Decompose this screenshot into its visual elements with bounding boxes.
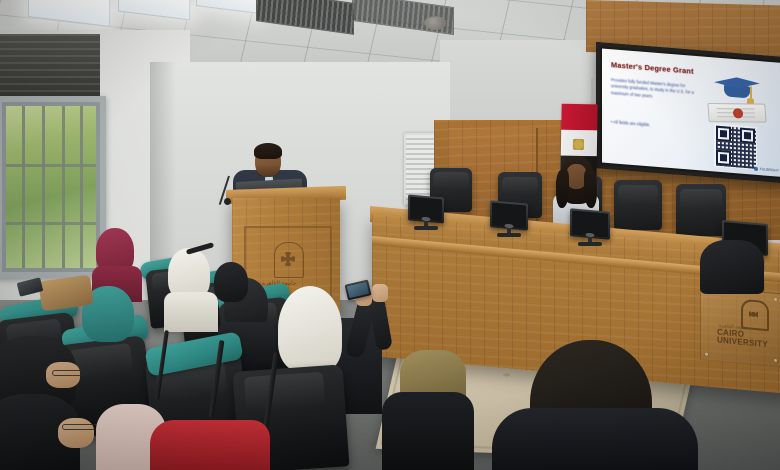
slide: Master's Degree Grant Provides fully fun… <box>602 48 780 177</box>
window-glass <box>6 106 96 268</box>
lecture-hall-photo: Master's Degree Grant Provides fully fun… <box>0 0 780 470</box>
university-emblem-icon <box>274 242 304 278</box>
slide-body-text: Provides fully funded Master's degree fo… <box>611 77 695 103</box>
panelist-hair-strand <box>556 170 569 208</box>
logo-text: FULBRIGHT <box>760 167 779 173</box>
attendee-foreground-face <box>58 418 94 448</box>
flag-band-red <box>561 104 597 131</box>
phone-screen <box>347 282 369 298</box>
attendee-red-top <box>150 420 270 470</box>
speaker-face-shadow <box>256 164 280 177</box>
attendee-far-right-hair <box>700 240 764 294</box>
qr-code-icon[interactable] <box>714 123 757 169</box>
monitor-foot <box>497 233 521 237</box>
plaque-name: CAIRO UNIVERSITY <box>717 329 768 350</box>
attendee-eyewear <box>62 424 98 430</box>
panel-chair[interactable] <box>676 184 726 236</box>
slide-organization-logo: FULBRIGHT <box>754 167 779 173</box>
desk-monitor[interactable] <box>408 194 444 223</box>
window-blind[interactable] <box>0 34 100 103</box>
photographer-hand <box>372 284 388 302</box>
plaque-line-2: UNIVERSITY <box>717 337 768 350</box>
slide-title: Master's Degree Grant <box>611 60 694 76</box>
desk-monitor[interactable] <box>490 200 528 230</box>
microphone-head <box>224 198 231 205</box>
attendee-man-foreground-shoulders <box>492 408 698 470</box>
presentation-screen: Master's Degree Grant Provides fully fun… <box>596 42 780 184</box>
blind-slats <box>0 34 100 100</box>
diploma-seal <box>733 108 744 118</box>
ceiling-speaker <box>424 16 446 30</box>
logo-mark-icon <box>754 167 758 171</box>
attendee-foreground-body <box>382 392 474 470</box>
diploma-scroll-icon <box>707 103 766 123</box>
attendee-white-body <box>164 292 218 332</box>
attendee-white-hijab-photographer <box>278 286 342 372</box>
flag-eagle-emblem <box>573 139 584 150</box>
slide-bullet: • All fields are eligible <box>611 119 697 131</box>
monitor-foot <box>414 226 438 230</box>
monitor-foot <box>578 242 602 246</box>
panel-chair[interactable] <box>614 180 662 230</box>
attendee-eyewear <box>52 370 86 376</box>
graduation-cap-icon <box>714 73 760 99</box>
window <box>0 96 106 278</box>
desk-monitor[interactable] <box>570 208 610 239</box>
panelist-hair-strand <box>584 170 597 208</box>
attendee-dark-hijab <box>214 262 248 302</box>
cairo-university-plaque: جامعة القاهرة CAIRO UNIVERSITY <box>700 286 780 367</box>
speaker-hair <box>254 143 282 159</box>
